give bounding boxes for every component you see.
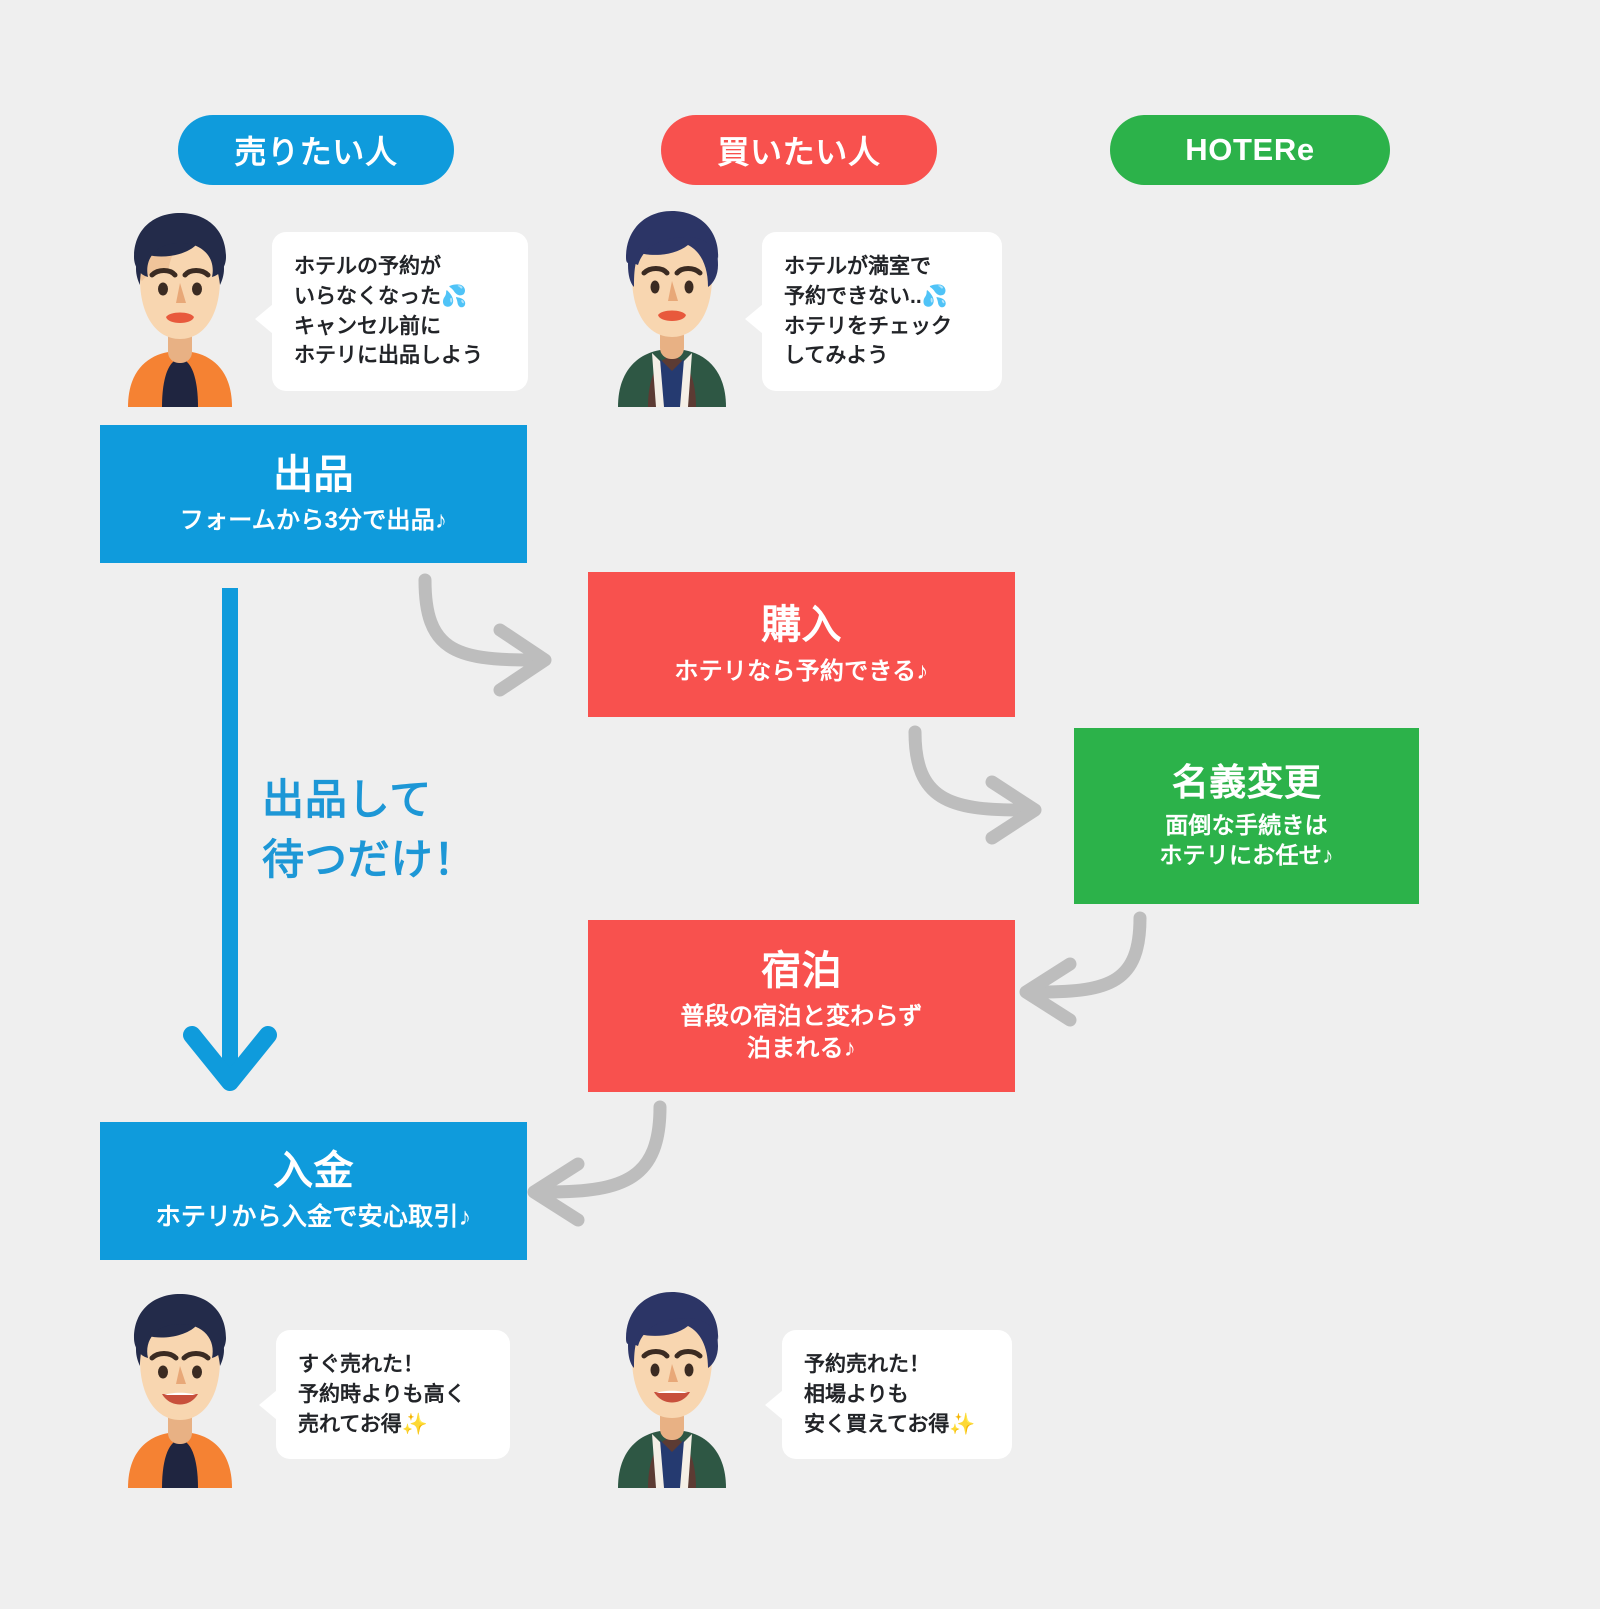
- step-title-stay: 宿泊: [761, 948, 842, 995]
- step-title-rename: 名義変更: [1172, 761, 1321, 805]
- step-title-listing: 出品: [273, 452, 354, 499]
- arrow-rename-to-stay: [1026, 918, 1140, 1020]
- avatar-buyer-happy: [592, 1288, 752, 1488]
- avatar-seller-worried: [100, 207, 260, 407]
- bubble-buyer-problem: ホテルが満室で 予約できない..💦 ホテリをチェック してみよう: [762, 232, 1002, 391]
- avatar-buyer-worried: [592, 207, 752, 407]
- step-title-payout: 入金: [273, 1148, 354, 1195]
- step-box-payout[interactable]: 入金 ホテリから入金で安心取引♪: [100, 1122, 527, 1260]
- step-subtitle-rename: 面倒な手続きは ホテリにお任せ♪: [1159, 811, 1333, 871]
- pill-service-label: HOTERe: [1185, 132, 1314, 168]
- pill-seller[interactable]: 売りたい人: [178, 115, 454, 185]
- bubble-buyer-result: 予約売れた！ 相場よりも 安く買えてお得✨: [782, 1330, 1012, 1459]
- avatar-seller-happy: [100, 1288, 260, 1488]
- arrow-purchase-to-rename: [915, 732, 1035, 838]
- pill-seller-label: 売りたい人: [234, 127, 397, 173]
- arrow-stay-to-payout: [534, 1107, 660, 1220]
- step-subtitle-payout: ホテリから入金で安心取引♪: [156, 1201, 472, 1234]
- step-box-stay[interactable]: 宿泊 普段の宿泊と変わらず 泊まれる♪: [588, 920, 1015, 1092]
- bubble-seller-result: すぐ売れた！ 予約時よりも高く 売れてお得✨: [276, 1330, 510, 1459]
- infographic-root: 売りたい人 買いたい人 HOTERe: [0, 0, 1600, 1609]
- step-subtitle-stay: 普段の宿泊と変わらず 泊まれる♪: [681, 1001, 923, 1063]
- pill-service[interactable]: HOTERe: [1110, 115, 1390, 185]
- arrow-listing-to-payout-direct: [192, 588, 268, 1082]
- bubble-seller-problem: ホテルの予約が いらなくなった💦 キャンセル前に ホテリに出品しよう: [272, 232, 528, 391]
- step-box-purchase[interactable]: 購入 ホテリなら予約できる♪: [588, 572, 1015, 717]
- step-subtitle-listing: フォームから3分で出品♪: [180, 505, 448, 536]
- step-title-purchase: 購入: [761, 602, 842, 649]
- step-subtitle-purchase: ホテリなら予約できる♪: [674, 656, 928, 687]
- step-box-listing[interactable]: 出品 フォームから3分で出品♪: [100, 425, 527, 563]
- pill-buyer[interactable]: 買いたい人: [661, 115, 937, 185]
- pill-buyer-label: 買いたい人: [717, 127, 880, 173]
- step-box-rename[interactable]: 名義変更 面倒な手続きは ホテリにお任せ♪: [1074, 728, 1419, 904]
- arrow-listing-to-purchase: [425, 580, 545, 690]
- headline-wait-only: 出品して 待つだけ！: [262, 770, 562, 889]
